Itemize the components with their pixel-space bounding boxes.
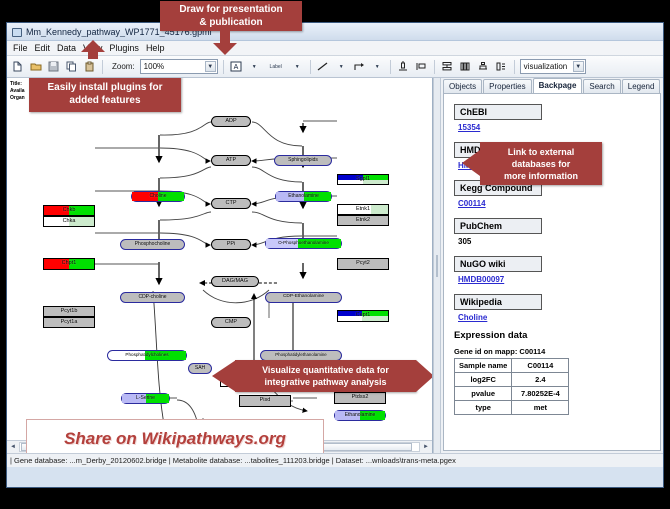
chevron-down-icon-text[interactable]: ▼ <box>247 59 262 74</box>
toolbar-separator-3 <box>310 60 311 74</box>
callout-visualize-line1: Visualize quantitative data for <box>262 364 389 376</box>
node-chpt1[interactable]: Chpt1 <box>43 258 95 270</box>
menu-item-file[interactable]: File <box>13 43 28 53</box>
expression-gene-id: Gene id on mapp: C00114 <box>454 347 660 356</box>
label-tool-icon[interactable]: Label <box>265 59 287 74</box>
align-left-icon[interactable] <box>414 59 429 74</box>
node-label: Etnk1 <box>356 207 370 213</box>
chevron-down-icon[interactable]: ▼ <box>205 61 216 72</box>
backpage-link-kegg[interactable]: C00114 <box>458 199 660 208</box>
callout-draw-line1: Draw for presentation <box>179 3 282 16</box>
main-area: Title: Availa Organ <box>7 78 663 453</box>
chevron-down-icon-interaction[interactable]: ▼ <box>370 59 385 74</box>
node-cdp-choline[interactable]: CDP-choline <box>120 292 185 303</box>
zoom-label: Zoom: <box>112 62 135 71</box>
pathvisio-window: Mm_Kennedy_pathway_WP1771_45176.gpml Fil… <box>6 22 664 488</box>
callout-link-line2: databases for <box>512 158 571 170</box>
node-label: Ptdss2 <box>352 395 369 401</box>
callout-visualize-arrow-left <box>212 360 236 392</box>
node-label: Sgpl1 <box>356 177 370 183</box>
side-panel-tabs: Objects Properties Backpage Search Legen… <box>441 78 663 93</box>
node-label: Etnk2 <box>356 218 370 224</box>
menu-item-edit[interactable]: Edit <box>35 43 51 53</box>
stack-icon[interactable] <box>440 59 455 74</box>
node-label: Pcyt1a <box>61 320 78 326</box>
tab-legend[interactable]: Legend <box>622 79 661 93</box>
node-chkb[interactable]: Chkb <box>43 205 95 216</box>
node-label: Choline <box>150 194 167 199</box>
node-cdp-ethanolamine[interactable]: CDP-Ethanolamine <box>265 292 342 303</box>
callout-share: Share on Wikipathways.org <box>26 419 324 453</box>
node-o-phosphoethanolamine[interactable]: O-Phosphoethanolamine <box>265 238 342 249</box>
callout-link-line3: more information <box>504 170 578 182</box>
callout-draw: Draw for presentation & publication <box>160 1 302 31</box>
node-sah[interactable]: SAH <box>188 363 212 374</box>
node-pcyt1b[interactable]: Pcyt1b <box>43 306 95 317</box>
node-adp[interactable]: ADP <box>211 116 251 127</box>
order-icon[interactable] <box>494 59 509 74</box>
node-ptdss2[interactable]: Ptdss2 <box>334 392 386 404</box>
node-label: Cept1 <box>356 313 371 319</box>
node-label: Chpt1 <box>62 261 77 267</box>
node-label: Sphingolipids <box>288 158 318 163</box>
backpage-link-nugo[interactable]: HMDB00097 <box>458 275 660 284</box>
node-cept1[interactable]: Cept1 <box>337 310 389 322</box>
node-phosphatidylcholines[interactable]: Phosphatidylcholines <box>107 350 187 361</box>
callout-plugins-shaft <box>88 47 98 59</box>
backpage-header-wikipedia: Wikipedia <box>454 294 542 310</box>
callout-link: Link to external databases for more info… <box>480 142 602 185</box>
status-text: | Gene database: ...m_Derby_20120602.bri… <box>10 456 456 465</box>
text-tool-icon[interactable]: A <box>229 59 244 74</box>
node-cmp[interactable]: CMP <box>211 317 251 328</box>
expression-value: 7.80252E-4 <box>512 387 569 401</box>
table-row: type met <box>455 401 569 415</box>
node-label: CTP <box>226 201 237 207</box>
expression-value: met <box>512 401 569 415</box>
node-label: L-Serine <box>136 396 155 401</box>
expression-value: C00114 <box>512 359 569 373</box>
node-label: PPi <box>227 242 236 248</box>
callout-visualize: Visualize quantitative data for integrat… <box>235 360 416 392</box>
node-ethanolamine-top[interactable]: Ethanolamine <box>275 191 332 202</box>
backpage-header-nugo: NuGO wiki <box>454 256 542 272</box>
node-sphingolipids[interactable]: Sphingolipids <box>274 155 332 166</box>
table-row: Sample name C00114 <box>455 359 569 373</box>
callout-visualize-line2: integrative pathway analysis <box>264 376 386 388</box>
visualization-value: visualization <box>524 62 568 71</box>
expression-table: Sample name C00114 log2FC 2.4 pvalue 7.8… <box>454 358 569 415</box>
open-folder-icon[interactable] <box>28 59 43 74</box>
node-label: Pisd <box>260 398 271 404</box>
node-label: CMP <box>225 320 237 326</box>
node-pcyt1a[interactable]: Pcyt1a <box>43 317 95 328</box>
status-bar: | Gene database: ...m_Derby_20120602.bri… <box>7 453 663 467</box>
side-panel: Objects Properties Backpage Search Legen… <box>441 78 663 453</box>
node-label: Ethanolamine <box>288 194 319 199</box>
scroll-right-icon[interactable]: ► <box>420 442 432 453</box>
tab-backpage[interactable]: Backpage <box>533 78 583 93</box>
menu-item-help[interactable]: Help <box>146 43 165 53</box>
callout-draw-shaft <box>220 31 230 43</box>
toolbar-separator-4 <box>390 60 391 74</box>
callout-plugins-line1: Easily install plugins for <box>47 81 162 94</box>
node-label: ADP <box>225 119 236 125</box>
callout-draw-arrow <box>213 43 237 55</box>
pathway-canvas[interactable]: Title: Availa Organ <box>7 78 432 453</box>
save-icon[interactable] <box>46 59 61 74</box>
toolbar: Zoom: 100% ▼ A ▼ Label ▼ ▼ ▼ <box>7 56 663 78</box>
callout-plugins: Easily install plugins for added feature… <box>29 78 181 112</box>
node-label: Pcyt2 <box>356 261 370 267</box>
menu-bar: File Edit Data View Plugins Help <box>7 41 663 56</box>
node-label: Pcyt1b <box>61 309 78 315</box>
table-row: pvalue 7.80252E-4 <box>455 387 569 401</box>
node-choline-top[interactable]: Choline <box>131 191 185 202</box>
node-l-serine-left[interactable]: L-Serine <box>121 393 170 404</box>
copy-icon[interactable] <box>64 59 79 74</box>
zoom-value: 100% <box>144 62 164 71</box>
toolbar-separator-2 <box>223 60 224 74</box>
callout-visualize-arrow-right <box>416 360 432 392</box>
node-chka[interactable]: Chka <box>43 216 95 227</box>
node-label: CDP-choline <box>138 295 166 300</box>
backpage-link-wikipedia[interactable]: Choline <box>458 313 660 322</box>
node-pcyt2[interactable]: Pcyt2 <box>337 258 389 270</box>
tab-properties[interactable]: Properties <box>483 79 531 93</box>
zoom-combo[interactable]: 100% ▼ <box>140 59 218 74</box>
align-top-icon[interactable] <box>396 59 411 74</box>
callout-share-text: Share on Wikipathways.org <box>64 429 286 449</box>
scroll-left-icon[interactable]: ◄ <box>7 442 19 453</box>
callout-link-line1: Link to external <box>508 146 575 158</box>
visualization-combo[interactable]: visualization ▼ <box>520 59 586 74</box>
node-label: Phosphatidylcholines <box>125 353 168 358</box>
node-etnk2[interactable]: Etnk2 <box>337 215 389 226</box>
node-label: CDP-Ethanolamine <box>283 295 324 300</box>
toolbar-separator <box>102 60 103 74</box>
backpage-content[interactable]: ChEBI 15354 HMDB HMDB00097 Kegg Compound… <box>443 93 661 451</box>
node-pisd[interactable]: Pisd <box>239 395 291 407</box>
backpage-value-pubchem: 305 <box>458 237 660 246</box>
node-label: Phosphocholine <box>135 242 171 247</box>
expression-value: 2.4 <box>512 373 569 387</box>
menu-item-plugins[interactable]: Plugins <box>109 43 139 53</box>
chevron-down-icon-label[interactable]: ▼ <box>290 59 305 74</box>
expression-key: log2FC <box>455 373 512 387</box>
chevron-down-icon-line[interactable]: ▼ <box>334 59 349 74</box>
table-row: log2FC 2.4 <box>455 373 569 387</box>
node-ctp[interactable]: CTP <box>211 198 251 209</box>
node-sgpl1[interactable]: Sgpl1 <box>337 174 389 185</box>
callout-draw-line2: & publication <box>199 16 262 29</box>
new-document-icon[interactable] <box>10 59 25 74</box>
interaction-tool-icon[interactable] <box>352 59 367 74</box>
group-icon[interactable] <box>476 59 491 74</box>
app-icon <box>11 26 22 37</box>
node-ethanolamine-bottom[interactable]: Ethanolamine <box>334 410 386 421</box>
expression-key: type <box>455 401 512 415</box>
panel-splitter[interactable] <box>433 78 441 453</box>
backpage-header-chebi: ChEBI <box>454 104 542 120</box>
callout-link-arrow <box>462 150 480 176</box>
node-label: O-Phosphoethanolamine <box>278 241 329 246</box>
paste-icon[interactable] <box>82 59 97 74</box>
node-label: Phosphatidylethanolamine <box>275 353 327 357</box>
toolbar-separator-6 <box>514 60 515 74</box>
node-label: Chkb <box>63 208 76 214</box>
chevron-down-icon-visualization[interactable]: ▼ <box>573 61 584 72</box>
menu-item-data[interactable]: Data <box>57 43 76 53</box>
node-label: Chka <box>63 219 76 225</box>
callout-plugins-line2: added features <box>69 94 140 107</box>
title-bar: Mm_Kennedy_pathway_WP1771_45176.gpml <box>7 23 663 41</box>
tab-search[interactable]: Search <box>583 79 620 93</box>
node-etnk1[interactable]: Etnk1 <box>337 204 389 215</box>
expression-key: pvalue <box>455 387 512 401</box>
line-tool-icon[interactable] <box>316 59 331 74</box>
toolbar-separator-5 <box>434 60 435 74</box>
expression-data-title: Expression data <box>454 330 660 341</box>
node-label: Ethanolamine <box>345 413 376 418</box>
distribute-icon[interactable] <box>458 59 473 74</box>
expression-key: Sample name <box>455 359 512 373</box>
node-dagmag[interactable]: DAG/MAG <box>211 276 259 287</box>
pathway-canvas-panel[interactable]: Title: Availa Organ <box>7 78 433 453</box>
node-ppi[interactable]: PPi <box>211 239 251 250</box>
node-label: SAH <box>195 366 205 371</box>
svg-text:A: A <box>234 64 239 71</box>
backpage-link-chebi[interactable]: 15354 <box>458 123 660 132</box>
node-label: ATP <box>226 158 236 164</box>
node-label: DAG/MAG <box>222 279 248 285</box>
tab-objects[interactable]: Objects <box>443 79 482 93</box>
node-phosphocholine[interactable]: Phosphocholine <box>120 239 185 250</box>
backpage-header-pubchem: PubChem <box>454 218 542 234</box>
